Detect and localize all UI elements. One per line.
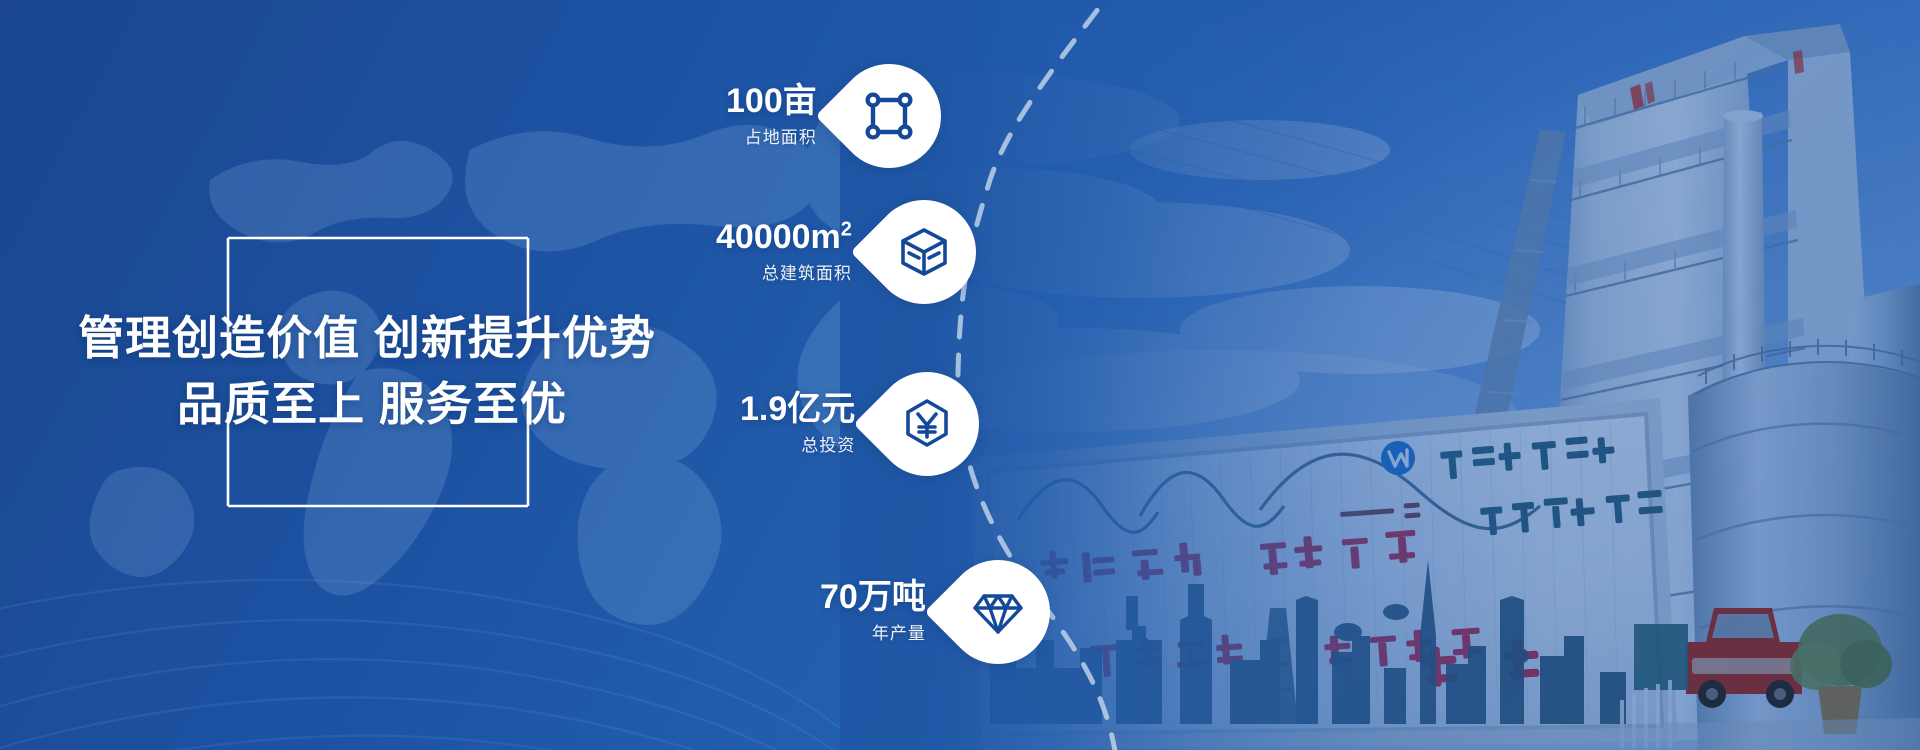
slogan-block: 管理创造价值 创新提升优势 品质至上 服务至优 [52, 232, 692, 512]
stat-text-group: 40000m2 总建筑面积 [716, 220, 872, 285]
building-cube-icon [872, 200, 976, 304]
stat-value-superscript: 2 [841, 218, 852, 240]
stat-pin[interactable] [872, 200, 976, 304]
stat-item-annual-output[interactable]: 70万吨 年产量 [820, 560, 1050, 664]
stat-item-land-area[interactable]: 100亩 占地面积 [726, 64, 941, 168]
diamond-icon [946, 560, 1050, 664]
slogan-line-2: 品质至上 服务至优 [177, 379, 567, 431]
hero-banner: 管理创造价值 创新提升优势 品质至上 服务至优 100亩 占地面积 [0, 0, 1920, 750]
stat-value: 70万吨 [820, 580, 926, 616]
stat-value-number: 40000m [716, 218, 841, 256]
stat-item-building-area[interactable]: 40000m2 总建筑面积 [716, 200, 976, 304]
slogan-line-1: 管理创造价值 创新提升优势 [78, 313, 656, 365]
stat-label: 总投资 [740, 431, 855, 456]
land-area-icon [837, 64, 941, 168]
stat-value: 100亩 [726, 84, 817, 120]
stat-label: 占地面积 [726, 123, 817, 148]
yuan-hexagon-icon [875, 372, 979, 476]
stat-value: 40000m2 [716, 220, 852, 256]
stat-label: 年产量 [820, 619, 926, 644]
stat-pin[interactable] [837, 64, 941, 168]
stat-value: 1.9亿元 [740, 392, 855, 428]
stat-item-investment[interactable]: 1.9亿元 总投资 [740, 372, 979, 476]
stat-label: 总建筑面积 [716, 259, 852, 284]
stat-pin[interactable] [946, 560, 1050, 664]
stat-pin[interactable] [875, 372, 979, 476]
